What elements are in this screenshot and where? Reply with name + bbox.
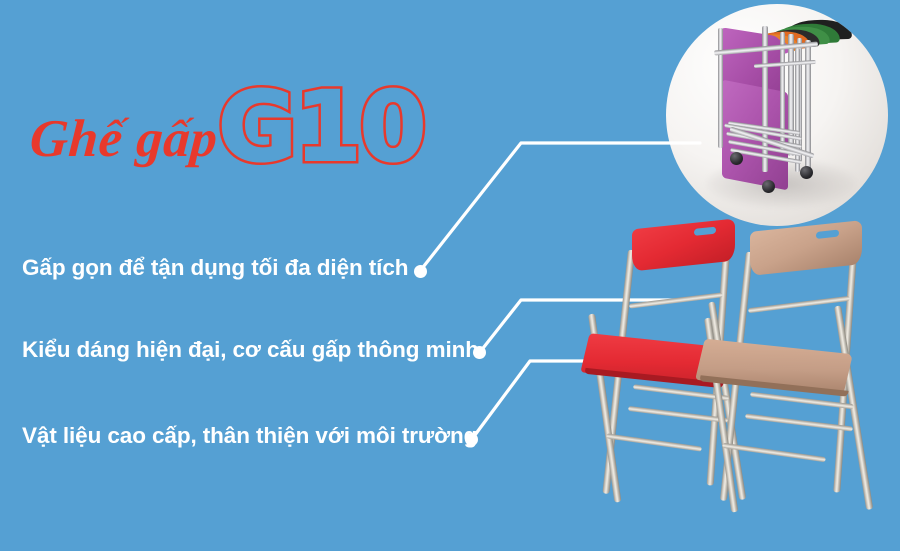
title-block: Ghế gấp G10 G10 [22,95,442,190]
product-poster: Ghế gấp G10 G10 Gấp gọn để tận dụng tối … [0,0,900,551]
product-model-outline: G10 [218,79,424,175]
trolley-caster-left [730,152,743,165]
beige-chair-handle-slot [816,230,839,239]
product-title-script: Ghế gấp [28,113,219,166]
feature-text-1: Kiểu dáng hiện đại, cơ cấu gấp thông min… [22,338,479,363]
beige-folding-chair [688,222,898,527]
trolley-caster-right [800,166,813,179]
beige-chair-stretcher-2 [745,413,853,431]
feature-text-2: Vật liệu cao cấp, thân thiện với môi trư… [22,424,477,449]
feature-text-0: Gấp gọn để tận dụng tối đa diện tích [22,256,408,281]
circular-product-photo [666,4,888,226]
trolley-caster-front [762,180,775,193]
feature-dot-1[interactable] [473,346,486,359]
beige-chair-stretcher-3 [722,443,826,462]
feature-dot-2[interactable] [465,433,478,446]
trolley-post-1 [718,28,723,148]
beige-chair-backrest [750,220,862,276]
feature-dot-0[interactable] [414,265,427,278]
